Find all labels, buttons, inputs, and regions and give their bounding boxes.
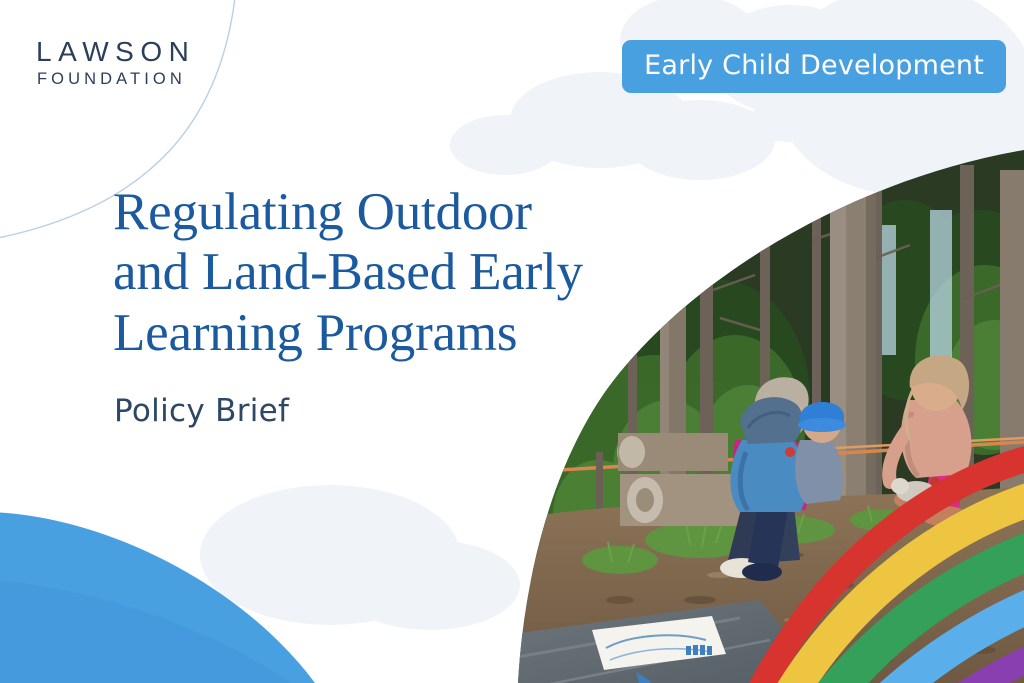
cover-photo: <="" stop offset="0%" stop-color="#cfe2e… <box>0 0 1024 683</box>
cover-page: LAWSON FOUNDATION Early Child Developmen… <box>0 0 1024 683</box>
